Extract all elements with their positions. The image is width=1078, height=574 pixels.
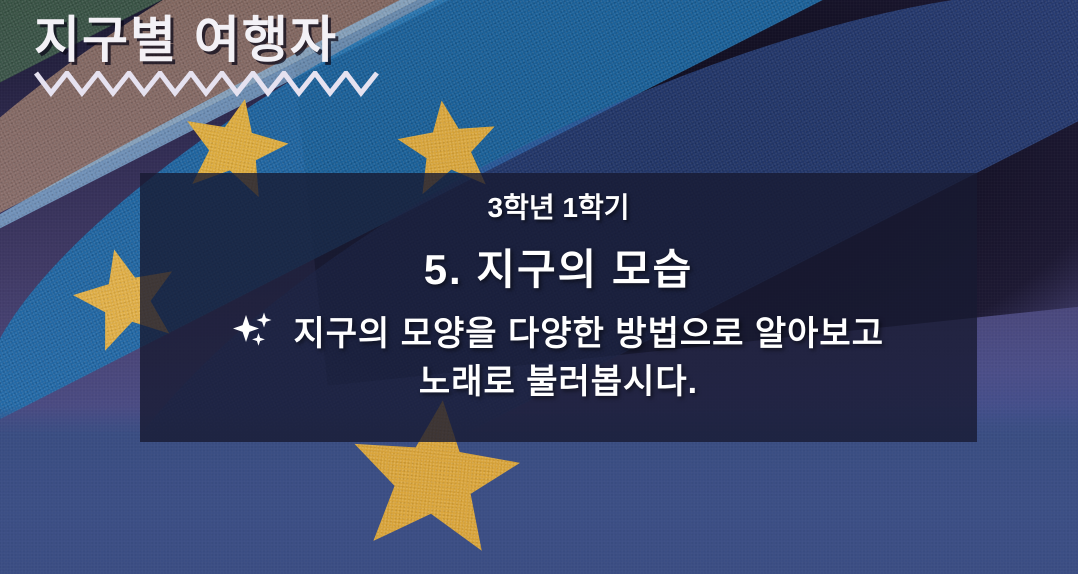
- presentation-slide: 지구별 여행자 3학년 1학기 5. 지구의 모습 지구의 모양을 다양한 방법…: [0, 0, 1078, 574]
- sparkles-icon-wrap: [233, 315, 293, 353]
- unit-title: 5. 지구의 모습: [424, 236, 694, 297]
- lesson-goal: 지구의 모양을 다양한 방법으로 알아보고 노래로 불러봅시다.: [140, 310, 977, 407]
- lesson-goal-line-2: 노래로 불러봅시다.: [150, 358, 967, 406]
- lesson-goal-line-1: 지구의 모양을 다양한 방법으로 알아보고: [293, 315, 884, 353]
- grade-semester-label: 3학년 1학기: [488, 186, 630, 226]
- lower-blue-field: [0, 432, 1078, 574]
- lesson-info-panel: 3학년 1학기 5. 지구의 모습 지구의 모양을 다양한 방법으로 알아보고 …: [140, 173, 977, 442]
- zigzag-underline-icon: [34, 71, 379, 97]
- sparkles-icon: [233, 312, 275, 350]
- page-title: 지구별 여행자: [34, 14, 394, 67]
- slide-header: 지구별 여행자: [34, 14, 394, 97]
